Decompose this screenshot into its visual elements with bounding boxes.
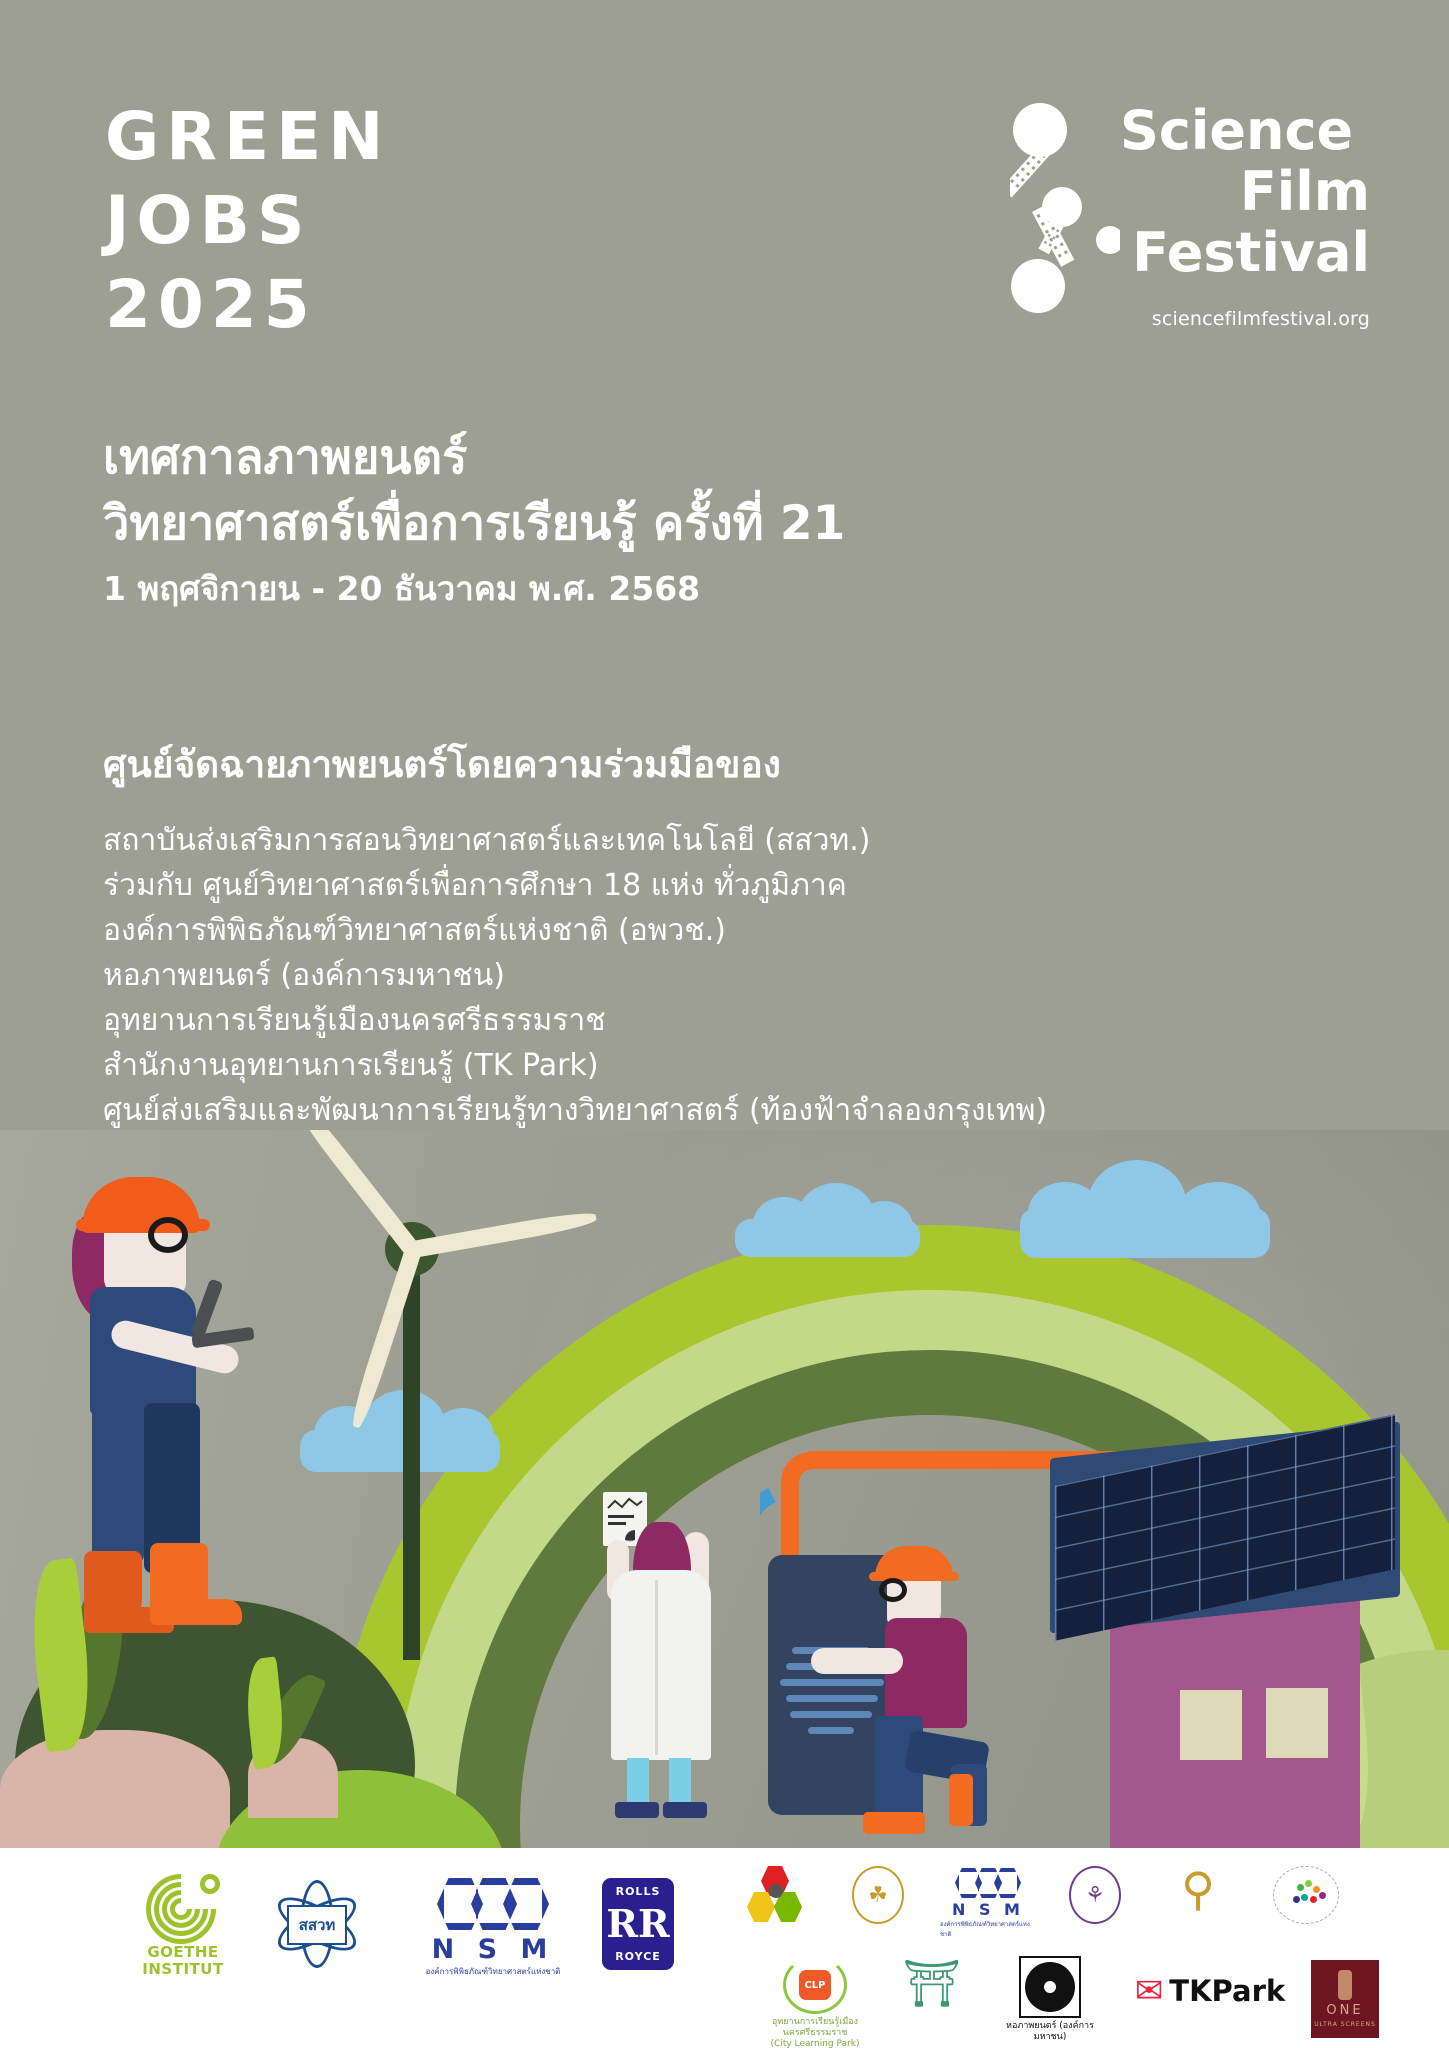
engineer-glasses — [148, 1217, 188, 1253]
technician-shirt — [885, 1618, 967, 1728]
technician-shoe-front — [863, 1812, 925, 1834]
goethe-institut-logo[interactable]: GOETHE INSTITUT — [118, 1874, 248, 1978]
chemistry-molecule-logo[interactable] — [740, 1866, 810, 1924]
sff-wordmark: Science Film Festival — [1120, 100, 1370, 283]
tkpark-label: TKPark — [1169, 1974, 1285, 2008]
poster-root: GREEN JOBS 2025 — [0, 0, 1449, 2048]
solar-panel-frame — [1050, 1422, 1400, 1634]
one-badge-icon: ONE ULTRA SCREENS — [1311, 1960, 1379, 2038]
rr-label-top: ROLLS — [616, 1885, 661, 1898]
nsm-label: N S M — [432, 1934, 555, 1965]
festival-dates: 1 พฤศจิกายน - 20 ธันวาคม พ.ศ. 2568 — [103, 563, 1353, 615]
house-window-left — [1180, 1690, 1242, 1760]
organizer-line: สถาบันส่งเสริมการสอนวิทยาศาสตร์และเทคโนโ… — [103, 818, 1373, 863]
scientist-leg-left — [627, 1758, 649, 1808]
thai-title-line-2: วิทยาศาสตร์เพื่อการเรียนรู้ ครั้งที่ 21 — [103, 491, 1353, 557]
engineer-figure — [52, 1155, 282, 1675]
soil-mound-left — [0, 1730, 230, 1848]
rr-label-mid: RR — [606, 1905, 669, 1943]
ipst-sstw-logo[interactable]: สสวท — [252, 1878, 382, 1970]
technician-glasses — [879, 1578, 907, 1602]
molecule-icon — [747, 1866, 803, 1924]
film-reel-icon — [1019, 1956, 1081, 2018]
throne-icon: ⚲ — [1181, 1866, 1215, 1912]
nsm-small-caption: องค์การพิพิธภัณฑ์วิทยาศาสตร์แห่งชาติ — [940, 1919, 1036, 1939]
goethe-dot-icon — [200, 1874, 220, 1894]
engineer-leg-back — [92, 1403, 144, 1563]
turbine-blade-2 — [291, 1130, 421, 1259]
page-title: GREEN JOBS 2025 — [105, 95, 390, 347]
one-sublabel: ULTRA SCREENS — [1314, 2021, 1376, 2028]
wind-turbine — [255, 1150, 585, 1650]
scientist-figure — [595, 1510, 795, 1840]
nsm-small-hex-icon — [955, 1866, 1021, 1900]
sff-url[interactable]: sciencefilmfestival.org — [1010, 308, 1370, 330]
turbine-mast — [403, 1240, 420, 1660]
technician-figure — [845, 1540, 1045, 1840]
one-label: ONE — [1326, 2003, 1363, 2018]
festival-name-block: เทศกาลภาพยนตร์ วิทยาศาสตร์เพื่อการเรียนร… — [103, 425, 1353, 615]
rolls-royce-logo[interactable]: ROLLS RR ROYCE — [588, 1878, 688, 1970]
sff-word-science: Science — [1120, 100, 1370, 161]
nsm-small-label: N S M — [952, 1900, 1024, 1919]
ipst-label: สสวท — [287, 1905, 347, 1945]
rolls-royce-badge-icon: ROLLS RR ROYCE — [602, 1878, 674, 1970]
royal-seal-icon: ☘ — [852, 1866, 904, 1924]
fountain-seal-icon: ⛩ — [903, 1960, 961, 2006]
tkpark-mark: ✉ TKPark — [1135, 1974, 1285, 2008]
technician-arm — [811, 1648, 903, 1674]
organizer-line: ร่วมกับ ศูนย์วิทยาศาสตร์เพื่อการศึกษา 18… — [103, 863, 1373, 908]
sff-word-film: Film — [1120, 161, 1370, 222]
clp-icon: CLP — [783, 1956, 847, 2014]
thai-title-line-1: เทศกาลภาพยนตร์ — [103, 425, 1353, 491]
tk-park-logo[interactable]: ✉ TKPark — [1125, 1974, 1295, 2008]
goethe-label: GOETHE INSTITUT — [142, 1944, 223, 1978]
rainbow-dots-logo[interactable] — [1268, 1866, 1344, 1924]
clp-caption: อุทยานการเรียนรู้เมืองนครศรีธรรมราช (Cit… — [740, 2017, 890, 2048]
film-archive-logo[interactable]: หอภาพยนตร์ (องค์การมหาชน) — [990, 1956, 1110, 2043]
scientist-shoe-left — [615, 1802, 659, 1818]
solar-house — [1070, 1430, 1400, 1848]
nsm-small-logo[interactable]: N S M องค์การพิพิธภัณฑ์วิทยาศาสตร์แห่งชา… — [940, 1866, 1036, 1939]
goethe-mark-icon — [146, 1874, 220, 1944]
organizer-line: อุทยานการเรียนรู้เมืองนครศรีธรรมราช — [103, 998, 1373, 1043]
cloud-top-left — [735, 1183, 920, 1255]
scientist-leg-right — [669, 1758, 691, 1808]
title-line-jobs: JOBS — [105, 179, 390, 263]
sff-word-festival: Festival — [1120, 222, 1370, 283]
technician-hat-brim — [869, 1572, 959, 1581]
organizers-heading: ศูนย์จัดฉายภาพยนตร์โดยความร่วมมือของ — [103, 740, 1373, 790]
film-archive-caption: หอภาพยนตร์ (องค์การมหาชน) — [990, 2021, 1110, 2043]
papercraft-illustration — [0, 1130, 1449, 1848]
city-learning-park-logo[interactable]: CLP อุทยานการเรียนรู้เมืองนครศรีธรรมราช … — [740, 1956, 890, 2048]
one-ultra-screens-logo[interactable]: ONE ULTRA SCREENS — [1300, 1960, 1390, 2038]
organizers-block: ศูนย์จัดฉายภาพยนตร์โดยความร่วมมือของ สถา… — [103, 740, 1373, 1133]
nsm-hex-icon — [437, 1876, 549, 1934]
royal-seal-gold-logo[interactable]: ☘ — [843, 1866, 913, 1924]
clp-label: CLP — [799, 1970, 831, 2000]
rainbow-dots-icon — [1273, 1866, 1339, 1924]
gold-throne-seal-logo[interactable]: ⚲ — [1163, 1866, 1233, 1912]
organizer-line: หอภาพยนตร์ (องค์การมหาชน) — [103, 953, 1373, 998]
one-glyph — [1338, 1970, 1352, 2000]
turbine-blade-3 — [407, 1209, 597, 1259]
tkpark-runner-icon: ✉ — [1135, 1976, 1164, 2006]
film-molecule-icon — [1010, 100, 1120, 315]
sponsor-footer: GOETHE INSTITUT สสวท N S M องค์การพิพิธภ… — [0, 1848, 1449, 2048]
ipst-atom-icon: สสวท — [271, 1878, 363, 1970]
cloud-top-right — [1020, 1160, 1270, 1255]
engineer-hat-brim — [76, 1219, 210, 1231]
house-window-right — [1266, 1688, 1328, 1758]
scientist-lab-coat — [611, 1570, 711, 1760]
nsm-logo[interactable]: N S M องค์การพิพิธภัณฑ์วิทยาศาสตร์แห่งชา… — [398, 1876, 588, 1978]
purple-university-seal-logo[interactable]: ⚘ — [1060, 1866, 1130, 1924]
engineer-boot-front-foot — [150, 1599, 242, 1625]
organizer-line: สำนักงานอุทยานการเรียนรู้ (TK Park) — [103, 1043, 1373, 1088]
title-line-year: 2025 — [105, 263, 390, 347]
rr-label-bottom: ROYCE — [615, 1950, 661, 1963]
organizer-line: องค์การพิพิธภัณฑ์วิทยาศาสตร์แห่งชาติ (อพ… — [103, 908, 1373, 953]
purple-seal-icon: ⚘ — [1069, 1866, 1121, 1924]
scientist-coat-seam — [655, 1580, 658, 1755]
scientist-shoe-right — [663, 1802, 707, 1818]
science-film-festival-logo: Science Film Festival sciencefilmfestiva… — [1010, 100, 1370, 370]
nsm-caption: องค์การพิพิธภัณฑ์วิทยาศาสตร์แห่งชาติ — [426, 1965, 561, 1978]
organizer-line: ศูนย์ส่งเสริมและพัฒนาการเรียนรู้ทางวิทยา… — [103, 1088, 1373, 1133]
nakhon-si-thammarat-seal-logo[interactable]: ⛩ — [892, 1960, 972, 2006]
technician-shoe-back — [949, 1774, 973, 1826]
title-line-green: GREEN — [105, 95, 390, 179]
